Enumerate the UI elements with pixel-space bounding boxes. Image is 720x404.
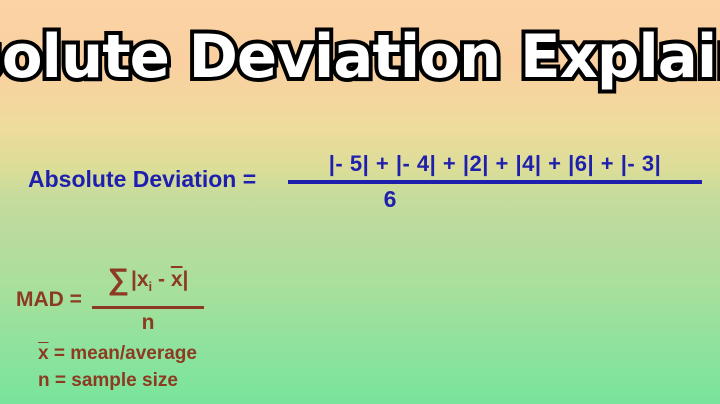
absolute-deviation-fraction: |- 5| + |- 4| + |2| + |4| + |6| + |- 3| … bbox=[288, 150, 702, 214]
slide-canvas: Absolute Deviation Explained Absolute De… bbox=[0, 0, 720, 404]
mad-denominator: n bbox=[92, 309, 204, 337]
absolute-deviation-denominator: 6 bbox=[288, 184, 492, 214]
mad-xbar: x bbox=[171, 268, 183, 291]
title-banner: Absolute Deviation Explained bbox=[0, 14, 720, 100]
absolute-deviation-label: Absolute Deviation = bbox=[28, 166, 256, 193]
absolute-deviation-formula: Absolute Deviation = |- 5| + |- 4| + |2|… bbox=[0, 150, 720, 220]
page-title: Absolute Deviation Explained bbox=[0, 27, 720, 87]
legend-line-xbar: x = mean/average bbox=[38, 340, 197, 367]
legend-xbar-symbol: x bbox=[38, 343, 49, 364]
mad-fraction: ∑|xi - x| n bbox=[92, 258, 204, 337]
legend: x = mean/average n = sample size bbox=[38, 340, 197, 394]
mad-numerator: ∑|xi - x| bbox=[92, 258, 204, 309]
mad-abs-open: |x bbox=[131, 268, 149, 291]
sigma-icon: ∑ bbox=[108, 263, 129, 296]
legend-xbar-text: = mean/average bbox=[54, 343, 197, 364]
legend-line-n: n = sample size bbox=[38, 367, 197, 394]
mad-label: MAD = bbox=[16, 288, 82, 312]
mad-abs-close: | bbox=[183, 268, 189, 291]
absolute-deviation-numerator: |- 5| + |- 4| + |2| + |4| + |6| + |- 3| bbox=[288, 150, 702, 178]
mad-minus: - bbox=[152, 268, 171, 291]
